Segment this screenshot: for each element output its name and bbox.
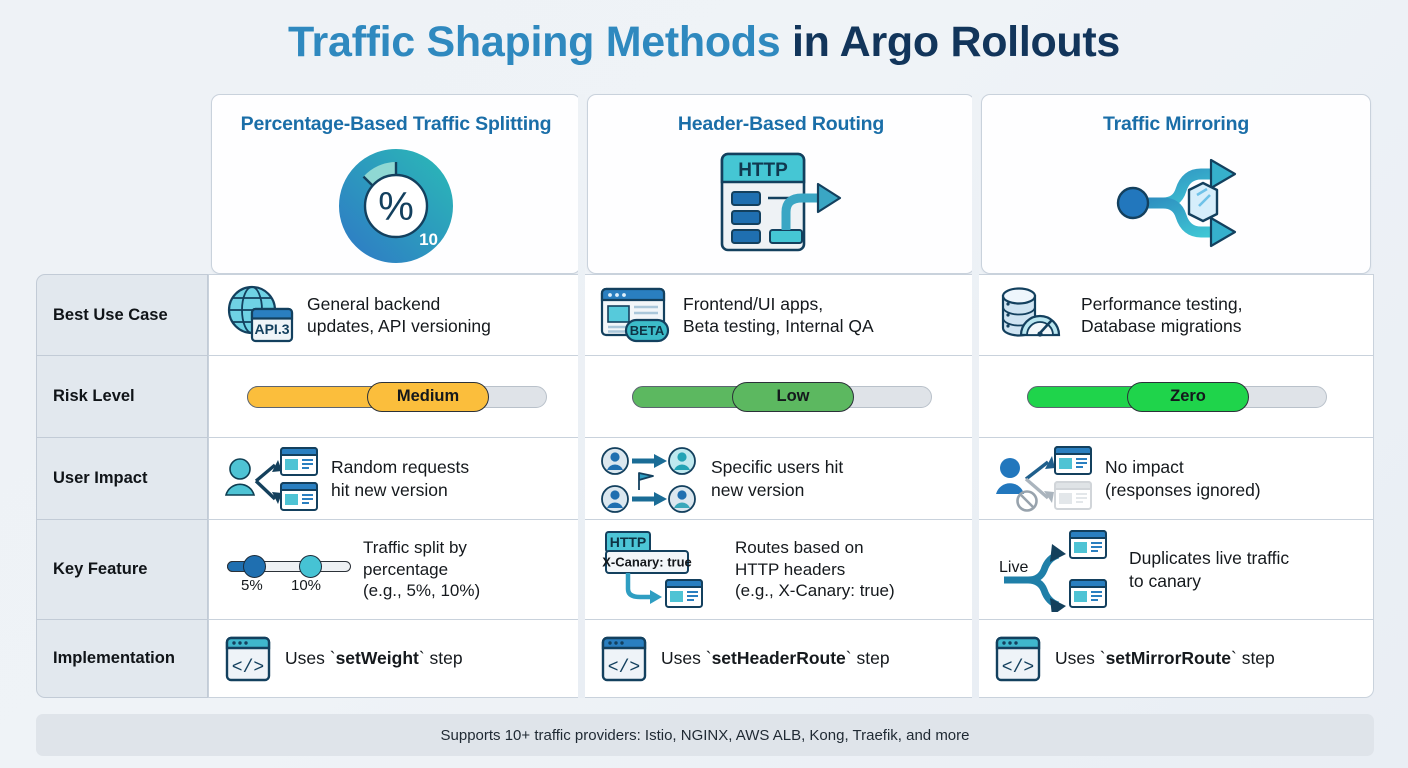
column-header-mirroring: Traffic Mirroring [981, 94, 1371, 274]
cell-user-impact-percentage: Random requests hit new version [208, 438, 584, 520]
risk-gauge-medium[interactable]: Medium [247, 382, 547, 412]
cell-risk-level-header-routing: Low [584, 356, 978, 438]
cell-implementation-percentage: </> Uses `setWeight` step [208, 620, 584, 698]
infographic-page: Traffic Shaping Methods in Argo Rollouts… [0, 0, 1408, 768]
cell-text: Uses `setHeaderRoute` step [661, 647, 890, 669]
globe-api-badge-label: API.3 [254, 321, 289, 337]
cell-key-feature-percentage: 5% 10% Traffic split by percentage (e.g.… [208, 520, 584, 620]
column-gutter-2 [972, 94, 979, 698]
database-gauge-icon [993, 283, 1069, 347]
impl-prefix: Uses ` [661, 648, 712, 668]
cell-text: Performance testing, Database migrations [1081, 293, 1242, 338]
column-header-percentage: Percentage-Based Traffic Splitting [211, 94, 581, 274]
cell-implementation-mirroring: </> Uses `setMirrorRoute` step [978, 620, 1374, 698]
http-panel-icon: HTTP [718, 148, 844, 258]
impl-prefix: Uses ` [1055, 648, 1106, 668]
traffic-split-arrows-icon [1111, 148, 1241, 258]
impl-code: setMirrorRoute [1106, 648, 1231, 668]
svg-text:</>: </> [1002, 658, 1034, 678]
column-header-label: Header-Based Routing [678, 113, 884, 136]
column-gutter-1 [578, 94, 585, 698]
page-title-accent: Traffic Shaping Methods [288, 18, 780, 66]
impl-code: setWeight [336, 648, 419, 668]
globe-api-icon: API.3 [223, 282, 295, 348]
cell-text: Traffic split by percentage (e.g., 5%, 1… [363, 537, 480, 602]
code-window-icon: </> [993, 634, 1043, 684]
slider-label-10: 10% [291, 577, 321, 594]
gauge-knob[interactable]: Zero [1127, 382, 1249, 412]
cell-user-impact-header-routing: Specific users hit new version [584, 438, 978, 520]
live-duplicate-icon: Live [993, 528, 1117, 612]
slider-label-5: 5% [241, 577, 263, 594]
cell-text: Random requests hit new version [331, 456, 469, 501]
page-title-dark: in Argo Rollouts [780, 18, 1120, 66]
footer-note: Supports 10+ traffic providers: Istio, N… [36, 714, 1374, 756]
http-tag-title: HTTP [610, 534, 647, 550]
risk-level-value: Low [777, 387, 810, 406]
risk-gauge-low[interactable]: Low [632, 382, 932, 412]
slider-handle-10[interactable] [299, 555, 322, 578]
risk-level-value: Medium [397, 387, 459, 406]
cell-text: Uses `setMirrorRoute` step [1055, 647, 1275, 669]
column-header-header-routing: Header-Based Routing HTTP [587, 94, 975, 274]
row-label-best-use-case: Best Use Case [36, 274, 208, 356]
code-window-icon: </> [599, 634, 649, 684]
svg-text:%: % [378, 185, 414, 229]
cell-text: Uses `setWeight` step [285, 647, 463, 669]
cell-text: Duplicates live traffic to canary [1129, 547, 1289, 592]
gauge-knob[interactable]: Low [732, 382, 854, 412]
grid-corner [36, 94, 208, 274]
svg-text:</>: </> [232, 658, 264, 678]
cell-text: No impact (responses ignored) [1105, 456, 1261, 501]
percent-slider-icon[interactable]: 5% 10% [223, 547, 351, 593]
impl-suffix: ` step [846, 648, 890, 668]
cell-text: Routes based on HTTP headers (e.g., X-Ca… [735, 537, 895, 602]
cell-risk-level-percentage: Medium [208, 356, 584, 438]
users-flag-routing-icon [599, 442, 699, 516]
beta-badge-label: BETA [630, 323, 665, 338]
column-header-label: Percentage-Based Traffic Splitting [241, 113, 552, 136]
code-window-icon: </> [223, 634, 273, 684]
cell-user-impact-mirroring: No impact (responses ignored) [978, 438, 1374, 520]
row-label-implementation: Implementation [36, 620, 208, 698]
row-label-risk-level: Risk Level [36, 356, 208, 438]
http-panel-label: HTTP [738, 160, 788, 181]
user-split-browsers-icon [223, 443, 319, 515]
risk-gauge-zero[interactable]: Zero [1027, 382, 1327, 412]
impl-prefix: Uses ` [285, 648, 336, 668]
live-tag-label: Live [999, 559, 1028, 576]
cell-text: General backend updates, API versioning [307, 293, 491, 338]
slider-handle-5[interactable] [243, 555, 266, 578]
cell-text: Frontend/UI apps, Beta testing, Internal… [683, 293, 874, 338]
risk-level-value: Zero [1170, 387, 1206, 406]
cell-risk-level-mirroring: Zero [978, 356, 1374, 438]
donut-value-label: 10 [419, 230, 438, 250]
cell-text: Specific users hit new version [711, 456, 843, 501]
svg-text:</>: </> [608, 658, 640, 678]
cell-best-use-case-percentage: API.3 General backend updates, API versi… [208, 274, 584, 356]
cell-implementation-header-routing: </> Uses `setHeaderRoute` step [584, 620, 978, 698]
user-blocked-mirror-icon [993, 443, 1093, 515]
impl-code: setHeaderRoute [712, 648, 846, 668]
gauge-knob[interactable]: Medium [367, 382, 489, 412]
impl-suffix: ` step [1231, 648, 1275, 668]
row-label-user-impact: User Impact [36, 438, 208, 520]
cell-best-use-case-mirroring: Performance testing, Database migrations [978, 274, 1374, 356]
page-title: Traffic Shaping Methods in Argo Rollouts [0, 0, 1408, 67]
cell-key-feature-mirroring: Live [978, 520, 1374, 620]
cell-best-use-case-header-routing: BETA Frontend/UI apps, Beta testing, Int… [584, 274, 978, 356]
http-header-tag-icon: HTTP X-Canary: true [599, 527, 723, 613]
column-header-label: Traffic Mirroring [1103, 113, 1249, 136]
impl-suffix: ` step [419, 648, 463, 668]
comparison-grid: Percentage-Based Traffic Splitting [36, 94, 1374, 698]
row-label-key-feature: Key Feature [36, 520, 208, 620]
browser-beta-icon: BETA [599, 284, 671, 346]
cell-key-feature-header-routing: HTTP X-Canary: true Routes based on HTTP… [584, 520, 978, 620]
http-tag-value: X-Canary: true [602, 554, 692, 569]
